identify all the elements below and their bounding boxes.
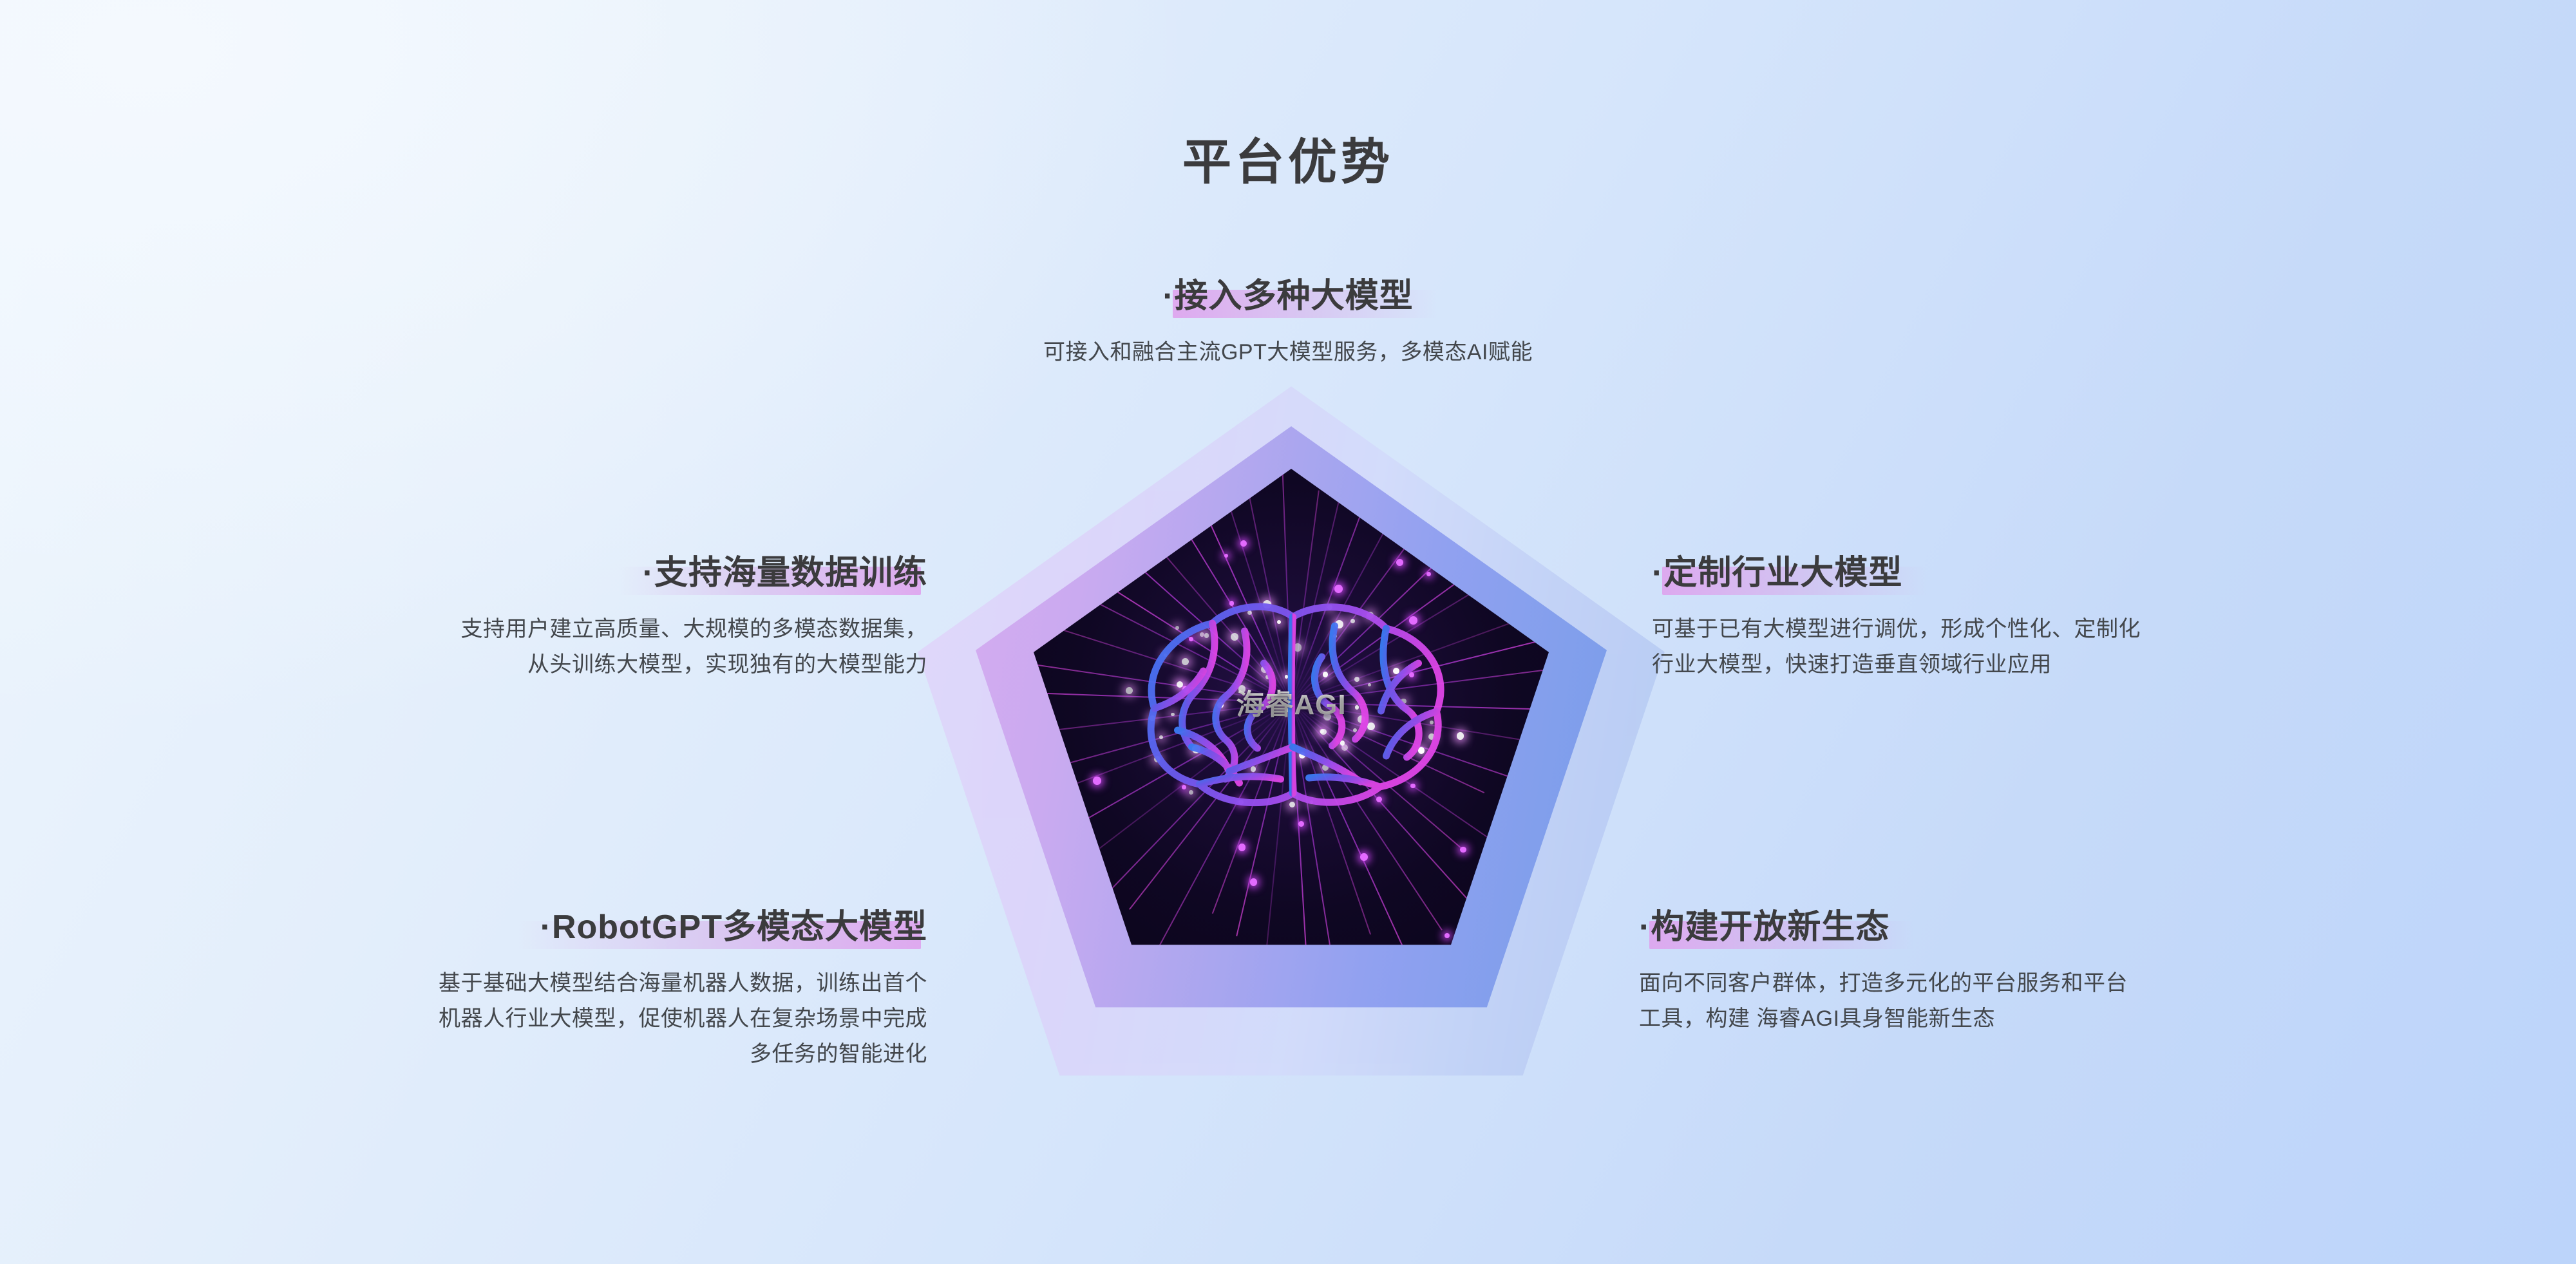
- feature-left-bottom: ·RobotGPT多模态大模型 基于基础大模型结合海量机器人数据，训练出首个 机…: [167, 898, 927, 1072]
- desc-line: 机器人行业大模型，促使机器人在复杂场景中完成: [167, 1001, 927, 1037]
- feature-right-bottom-heading-text: 构建开放新生态: [1651, 909, 1889, 946]
- feature-left-mid: ·支持海量数据训练 支持用户建立高质量、大规模的多模态数据集， 从头训练大模型，…: [167, 544, 927, 683]
- desc-line: 可基于已有大模型进行调优，形成个性化、定制化: [1652, 612, 2425, 647]
- feature-right-bottom-description: 面向不同客户群体，打造多元化的平台服务和平台 工具，构建 海睿AGI具身智能新生…: [1639, 966, 2444, 1037]
- feature-left-bottom-description: 基于基础大模型结合海量机器人数据，训练出首个 机器人行业大模型，促使机器人在复杂…: [167, 966, 927, 1072]
- desc-line: 面向不同客户群体，打造多元化的平台服务和平台: [1639, 966, 2444, 1001]
- bullet-dot: ·: [1639, 909, 1651, 946]
- feature-left-bottom-heading: ·RobotGPT多模态大模型: [540, 898, 927, 952]
- network-node: [1396, 559, 1403, 566]
- feature-right-mid-description: 可基于已有大模型进行调优，形成个性化、定制化 行业大模型，快速打造垂直领域行业应…: [1652, 612, 2425, 683]
- network-node: [1444, 933, 1450, 938]
- feature-top-heading-text: 接入多种大模型: [1175, 278, 1414, 315]
- bullet-dot: ·: [643, 554, 654, 592]
- feature-left-mid-heading: ·支持海量数据训练: [643, 544, 927, 598]
- desc-line: 行业大模型，快速打造垂直领域行业应用: [1652, 647, 2425, 683]
- bullet-dot: ·: [1162, 278, 1174, 315]
- network-node: [1460, 847, 1466, 853]
- feature-right-mid-heading: ·定制行业大模型: [1652, 544, 1902, 598]
- desc-line: 从头训练大模型，实现独有的大模型能力: [167, 647, 927, 683]
- center-label: 海睿AGI: [1236, 681, 1346, 722]
- desc-line: 多任务的智能进化: [167, 1037, 927, 1072]
- center-pentagon-graphic: 海睿AGI: [918, 386, 1665, 1114]
- desc-line: 基于基础大模型结合海量机器人数据，训练出首个: [167, 966, 927, 1001]
- desc-line: 工具，构建 海睿AGI具身智能新生态: [1639, 1001, 2444, 1037]
- network-node: [1298, 821, 1304, 827]
- feature-top: ·接入多种大模型 可接入和融合主流GPT大模型服务，多模态AI赋能: [837, 267, 1739, 370]
- network-node: [1240, 540, 1247, 547]
- feature-right-mid-heading-text: 定制行业大模型: [1663, 554, 1902, 592]
- feature-right-mid: ·定制行业大模型 可基于已有大模型进行调优，形成个性化、定制化 行业大模型，快速…: [1652, 544, 2425, 683]
- bullet-dot: ·: [540, 909, 552, 946]
- feature-top-description: 可接入和融合主流GPT大模型服务，多模态AI赋能: [837, 335, 1739, 370]
- feature-top-heading: ·接入多种大模型: [1162, 267, 1413, 321]
- desc-line: 可接入和融合主流GPT大模型服务，多模态AI赋能: [837, 335, 1739, 370]
- network-node: [1238, 844, 1245, 851]
- desc-line: 支持用户建立高质量、大规模的多模态数据集，: [167, 612, 927, 647]
- feature-left-mid-heading-text: 支持海量数据训练: [654, 554, 927, 592]
- feature-left-bottom-heading-text: RobotGPT多模态大模型: [552, 909, 927, 946]
- network-node: [1426, 572, 1431, 576]
- feature-right-bottom-heading: ·构建开放新生态: [1639, 898, 1889, 952]
- network-node: [1360, 853, 1368, 861]
- feature-left-mid-description: 支持用户建立高质量、大规模的多模态数据集， 从头训练大模型，实现独有的大模型能力: [167, 612, 927, 683]
- network-node: [1093, 777, 1101, 785]
- network-node: [1250, 878, 1257, 885]
- platform-advantages-page: 平台优势: [0, 0, 2576, 1264]
- feature-right-bottom: ·构建开放新生态 面向不同客户群体，打造多元化的平台服务和平台 工具，构建 海睿…: [1639, 898, 2444, 1037]
- network-node: [1224, 554, 1228, 558]
- bullet-dot: ·: [1652, 554, 1663, 592]
- page-title: 平台优势: [0, 122, 2576, 193]
